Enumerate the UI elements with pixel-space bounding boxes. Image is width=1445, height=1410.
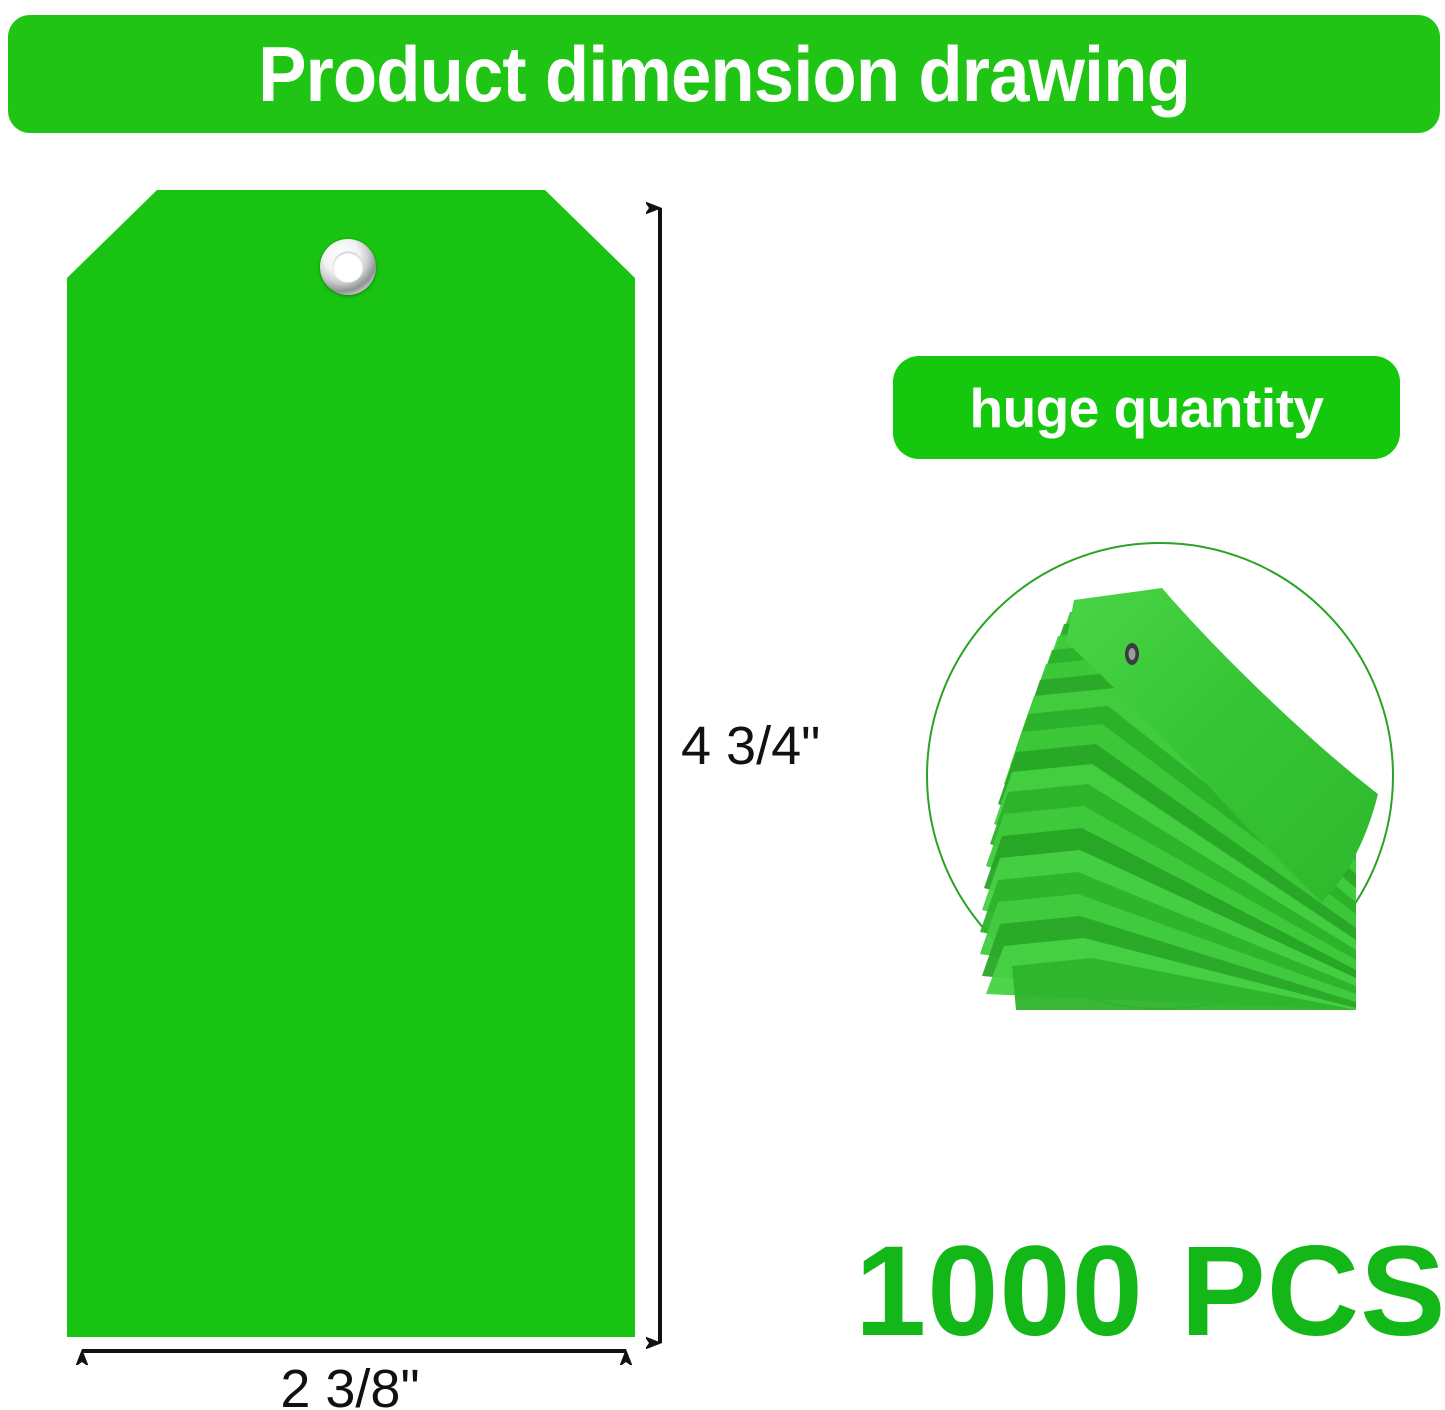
- header-banner: Product dimension drawing: [8, 15, 1440, 133]
- huge-quantity-label: huge quantity: [969, 376, 1323, 440]
- tag-shape: [67, 190, 635, 1337]
- page-title: Product dimension drawing: [258, 35, 1190, 113]
- product-dimension-drawing-page: Product dimension drawing 4 3/: [0, 0, 1445, 1410]
- width-dimension-label: 2 3/8": [0, 1358, 700, 1410]
- huge-quantity-badge: huge quantity: [893, 356, 1400, 459]
- height-dimension-label: 4 3/4": [681, 715, 820, 777]
- tag-figure: [67, 190, 635, 1337]
- eyelet-icon: [320, 239, 376, 295]
- eyelet-hole: [333, 252, 364, 283]
- piece-count-label: 1000 PCS: [855, 1228, 1425, 1356]
- tag-stack-circle-inset: [926, 542, 1394, 1010]
- fanned-tag-stack-photo: [926, 542, 1394, 1010]
